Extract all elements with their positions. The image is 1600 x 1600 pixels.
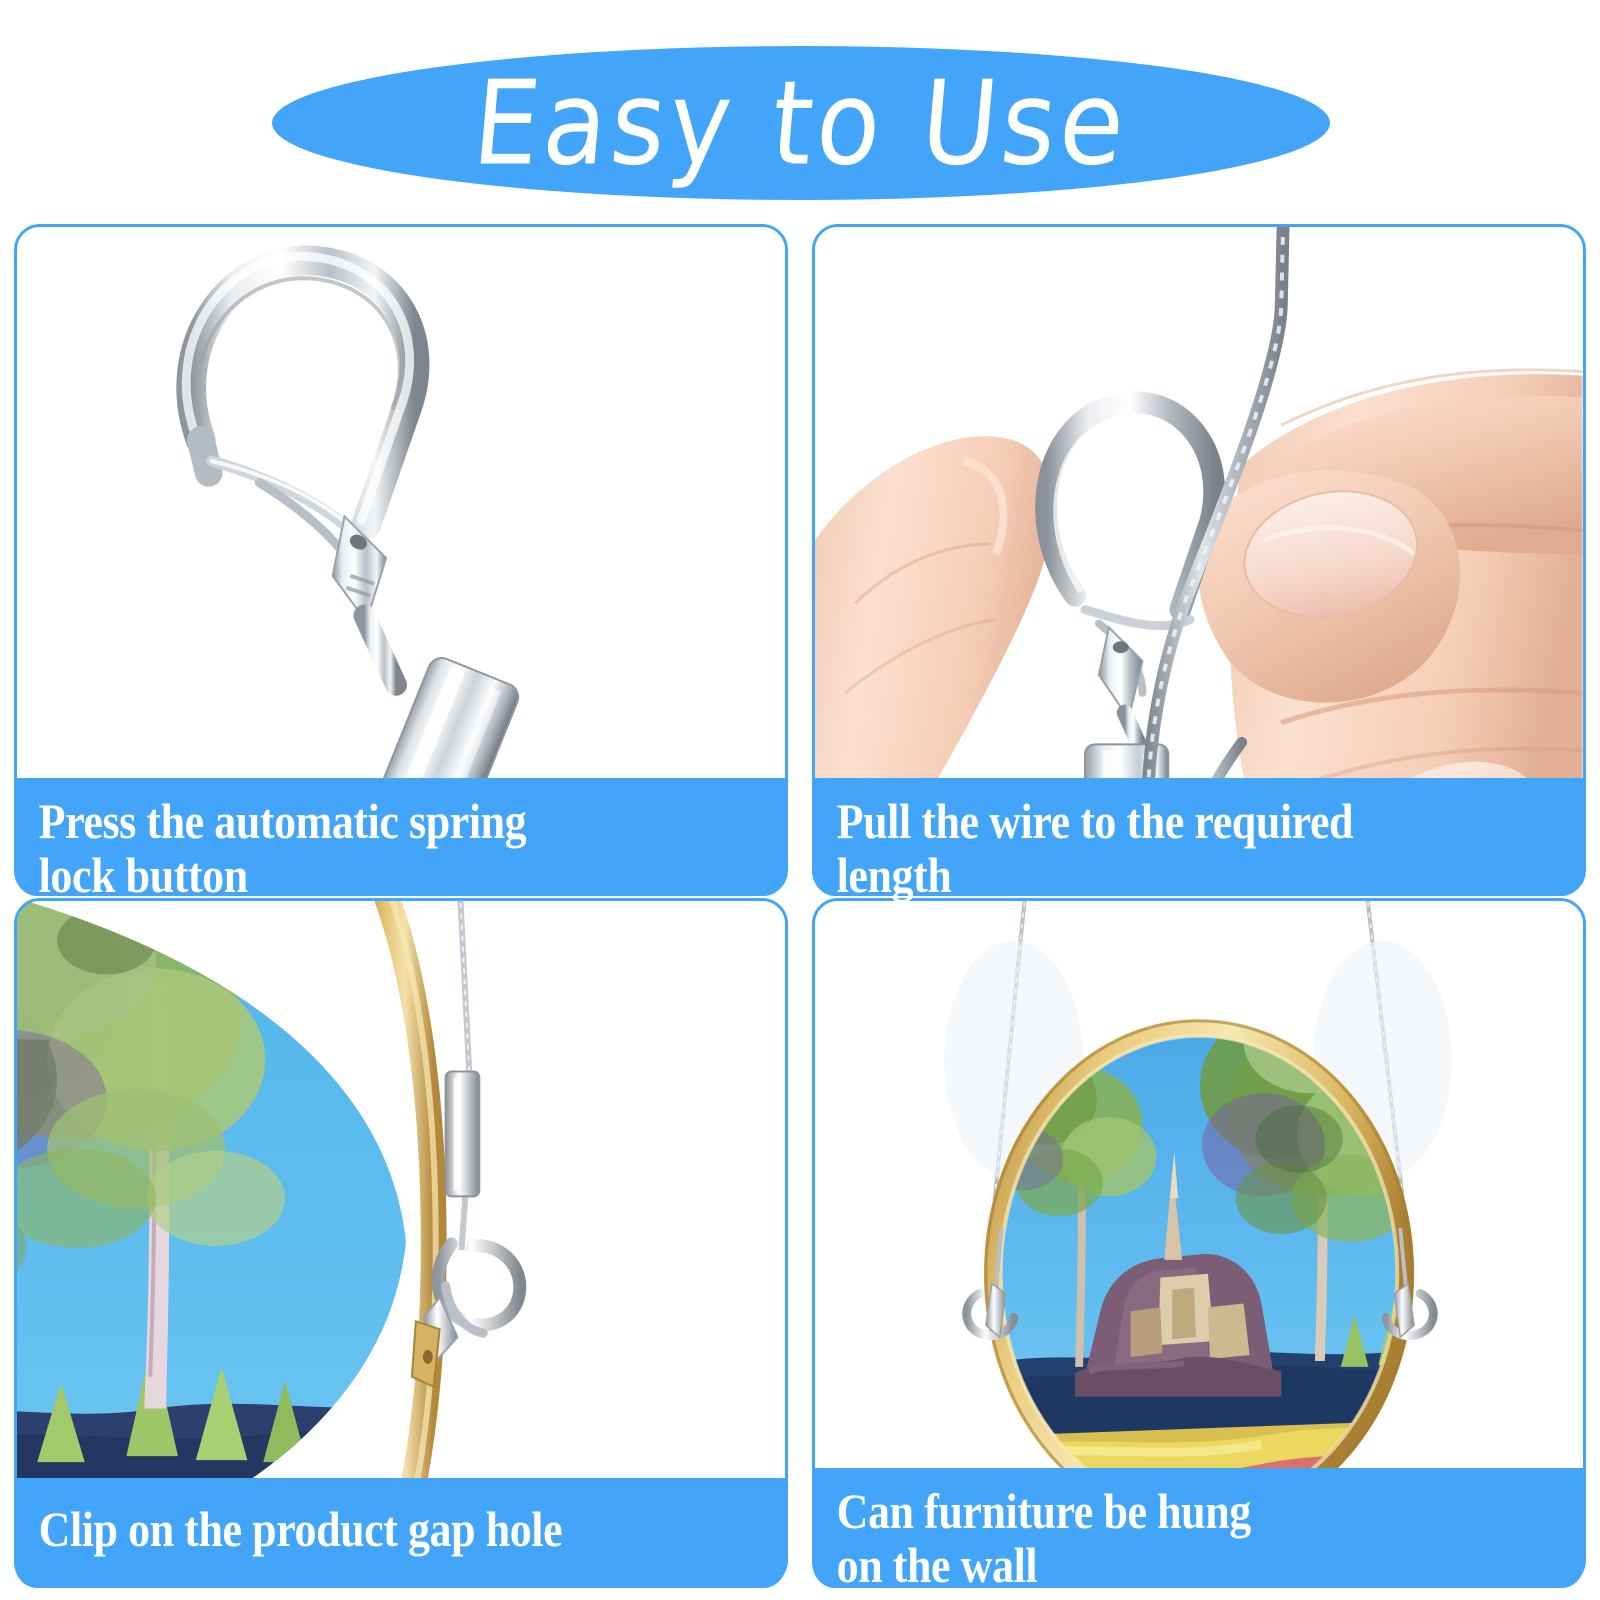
caption-step-4: Can furniture be hung on the wall bbox=[812, 1468, 1585, 1588]
caption-line-1: Clip on the product gap hole bbox=[39, 1502, 787, 1556]
caption-line-2: on the wall bbox=[837, 1538, 1585, 1592]
caption-step-2: Pull the wire to the required length bbox=[812, 778, 1585, 896]
spring-gate-shape bbox=[212, 461, 353, 554]
hook-shaft-shape bbox=[364, 616, 396, 685]
caption-step-3: Clip on the product gap hole bbox=[14, 1478, 787, 1588]
caption-step-1: Press the automatic spring lock button bbox=[14, 778, 787, 896]
caption-line-1: Can furniture be hung bbox=[837, 1484, 1585, 1538]
spring-lock-barrel-shape bbox=[446, 1072, 480, 1197]
caption-line-1: Pull the wire to the required bbox=[837, 794, 1585, 848]
title-banner: Easy to Use bbox=[272, 46, 1330, 200]
page-title: Easy to Use bbox=[469, 65, 1133, 181]
caption-line-2: length bbox=[837, 848, 1585, 902]
infographic-page: Easy to Use bbox=[0, 0, 1600, 1600]
caption-line-1: Press the automatic spring bbox=[39, 794, 787, 848]
frame-gap-hole-shape bbox=[412, 1321, 440, 1386]
hook-loop-shape bbox=[186, 256, 414, 524]
caption-line-2: lock button bbox=[39, 848, 787, 902]
